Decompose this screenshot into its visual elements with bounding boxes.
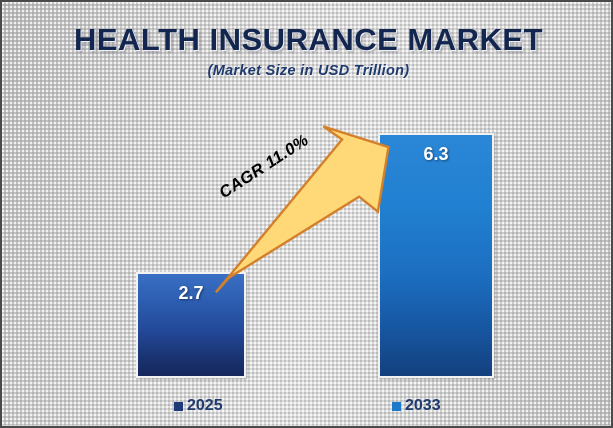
- chart-title-block: HEALTH INSURANCE MARKET (Market Size in …: [2, 24, 613, 79]
- legend-item-2025[interactable]: 2025: [174, 398, 223, 414]
- chart-title: HEALTH INSURANCE MARKET: [2, 24, 613, 57]
- legend-swatch-icon-2033: [392, 402, 401, 411]
- chart-canvas: HEALTH INSURANCE MARKET (Market Size in …: [0, 0, 613, 428]
- legend-label-2033: 2033: [405, 398, 441, 414]
- legend-label-2025: 2025: [187, 398, 223, 414]
- bar-value-label-2025: 2.7: [138, 283, 244, 304]
- legend-item-2033[interactable]: 2033: [392, 398, 441, 414]
- legend-swatch-icon-2025: [174, 402, 183, 411]
- bar-2025: 2.7: [136, 272, 246, 378]
- chart-subtitle: (Market Size in USD Trillion): [2, 63, 613, 79]
